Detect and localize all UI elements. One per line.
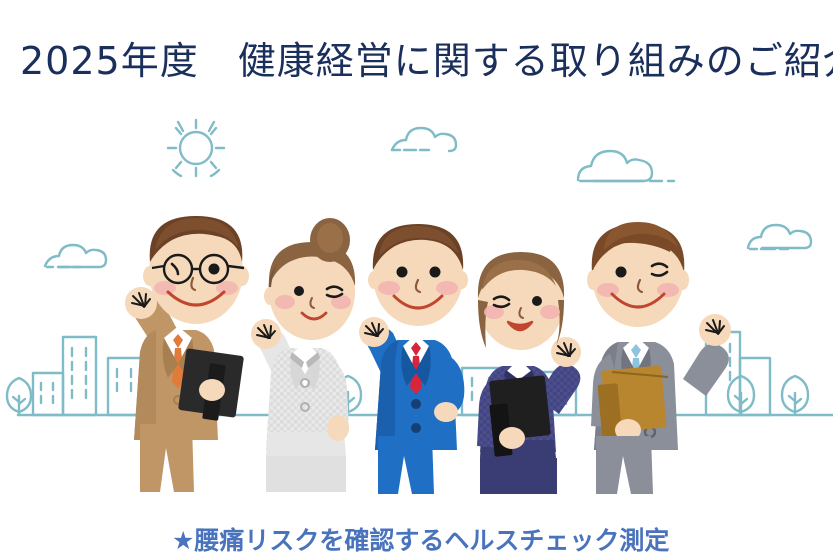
building-left-mid <box>108 358 141 415</box>
poster-root: 2025年度 健康経営に関する取り組みのご紹介 ★腰痛リスクを確認するヘルスチェ… <box>0 0 833 555</box>
cloud-left <box>45 245 106 267</box>
bullet-list: ★腰痛リスクを確認するヘルスチェック測定 ★食べて納得！管理栄養士の３分クッキン… <box>172 458 832 555</box>
sun-icon <box>168 120 224 176</box>
person-man-gray-suit-blue-tie <box>587 222 731 494</box>
person-man-blue-suit-red-tie <box>359 224 468 494</box>
building-right-low <box>740 358 770 415</box>
page-title: 2025年度 健康経営に関する取り組みのご紹介 <box>20 42 820 80</box>
building-left-small <box>33 373 63 415</box>
cloud-right <box>748 225 811 249</box>
building-left-tall <box>63 337 96 415</box>
person-man-glasses-tan-suit <box>125 216 249 492</box>
person-woman-white-check-suit <box>251 218 355 492</box>
cloud-upper-left <box>392 128 456 151</box>
tree-1 <box>7 378 31 415</box>
tree-6 <box>782 376 808 415</box>
cloud-upper-mid <box>578 151 674 181</box>
bullet-item-1: ★腰痛リスクを確認するヘルスチェック測定 <box>172 524 832 555</box>
